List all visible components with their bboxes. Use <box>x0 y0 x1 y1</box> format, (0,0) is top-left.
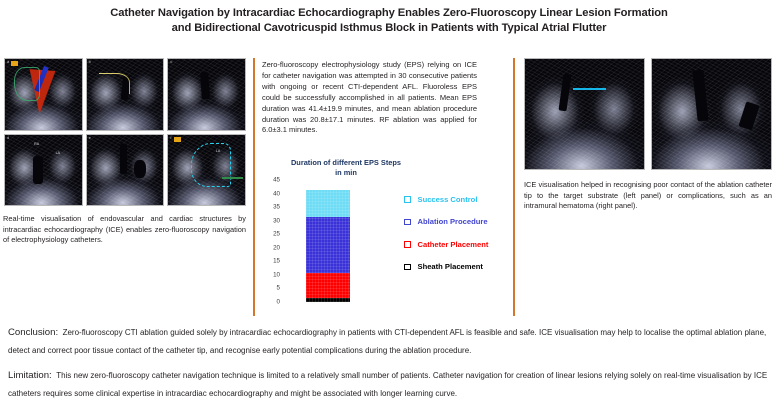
y-axis-tick-5: 5 <box>277 285 280 292</box>
legend-swatch-icon <box>404 241 411 248</box>
figure-title: Catheter Navigation by Intracardiac Echo… <box>0 0 778 35</box>
y-axis-tick-35: 35 <box>273 204 280 211</box>
chart-title-line-1: Duration of different EPS Steps <box>276 158 416 168</box>
panel-label-c: c <box>170 59 172 64</box>
legend-swatch-icon <box>404 219 411 226</box>
green-trace-outline <box>14 67 40 101</box>
eps-duration-chart: Duration of different EPS Steps in min 4… <box>256 158 512 318</box>
conclusion-lead-label: Conclusion: <box>8 327 58 338</box>
panel-label-f: f <box>170 135 171 140</box>
left-caption-text: Real-time visualisation of endovascular … <box>3 214 246 246</box>
bar-segment-ablation-procedure <box>306 217 350 273</box>
orange-tag-icon <box>174 137 181 142</box>
y-axis-tick-0: 0 <box>277 299 280 306</box>
stacked-bar <box>306 180 350 302</box>
results-paragraph: Zero-fluoroscopy electrophysiology study… <box>262 60 477 136</box>
anatomic-notch <box>200 71 210 98</box>
legend-label: Catheter Placement <box>418 240 489 249</box>
middle-column: Zero-fluoroscopy electrophysiology study… <box>256 52 512 320</box>
y-axis-tick-20: 20 <box>273 244 280 251</box>
title-line-2: and Bidirectional Cavotricuspid Isthmus … <box>40 21 738 36</box>
ultrasound-image-c: c <box>167 58 246 131</box>
legend-swatch-icon <box>404 264 411 271</box>
chart-title-line-2: in min <box>276 168 416 178</box>
chamber-label-la: LA <box>56 151 60 155</box>
y-axis-tick-25: 25 <box>273 231 280 238</box>
yellow-trace-outline <box>99 73 130 94</box>
right-image-row <box>524 58 772 170</box>
y-axis-tick-10: 10 <box>273 271 280 278</box>
bar-segment-success-control <box>306 190 350 217</box>
right-caption-text: ICE visualisation helped in recognising … <box>524 180 772 212</box>
left-column: a b c RA LA d <box>0 52 250 320</box>
chart-plot-area: 454035302520151050 <box>256 180 396 302</box>
legend-swatch-icon <box>404 196 411 203</box>
ice-image-grid: a b c RA LA d <box>4 58 246 206</box>
legend-label: Ablation Procedure <box>418 217 488 226</box>
legend-label: Success Control <box>418 195 478 204</box>
ultrasound-image-d: RA LA d <box>4 134 83 207</box>
y-axis: 454035302520151050 <box>256 180 282 302</box>
anatomic-notch <box>120 144 126 174</box>
ultrasound-image-left-panel <box>524 58 645 170</box>
chart-title: Duration of different EPS Steps in min <box>276 158 416 177</box>
bar-segment-catheter-placement <box>306 273 350 298</box>
conclusion-paragraph: Conclusion: Zero-fluoroscopy CTI ablatio… <box>8 322 770 358</box>
panel-label-e: e <box>89 135 91 140</box>
panel-label-d: d <box>7 135 9 140</box>
legend-item-catheter-placement: Catheter Placement <box>404 233 512 256</box>
limitation-block: Limitation: This new zero-fluoroscopy ca… <box>8 365 770 401</box>
speckle-texture <box>525 59 644 169</box>
legend-label: Sheath Placement <box>418 262 483 271</box>
legend-item-success-control: Success Control <box>404 188 512 211</box>
green-marker-bar-icon <box>222 177 243 179</box>
bar-segment-sheath-placement <box>306 298 350 302</box>
orange-tag-icon <box>11 61 18 66</box>
panel-label-b: b <box>89 59 91 64</box>
y-axis-tick-45: 45 <box>273 177 280 184</box>
limitation-body-text: This new zero-fluoroscopy catheter navig… <box>8 371 767 398</box>
column-divider-right <box>513 58 515 316</box>
figure-body: a b c RA LA d <box>0 52 778 320</box>
legend-item-ablation-procedure: Ablation Procedure <box>404 211 512 234</box>
cyan-dashed-trace-outline <box>191 143 231 187</box>
conclusion-block: Conclusion: Zero-fluoroscopy CTI ablatio… <box>8 322 770 358</box>
column-divider-left <box>253 58 255 316</box>
ultrasound-image-a: a <box>4 58 83 131</box>
chamber-label-la: LA <box>216 149 220 153</box>
right-column: ICE visualisation helped in recognising … <box>516 52 778 320</box>
panel-label-a: a <box>7 59 9 64</box>
figure-footer: Conclusion: Zero-fluoroscopy CTI ablatio… <box>0 322 778 400</box>
conclusion-body-text: Zero-fluoroscopy CTI ablation guided sol… <box>8 328 766 355</box>
limitation-lead-label: Limitation: <box>8 370 52 381</box>
cyan-marker-bar-icon <box>573 88 606 90</box>
anatomic-notch-2 <box>134 160 146 178</box>
chamber-label-ra: RA <box>34 142 39 146</box>
speckle-texture <box>5 135 82 206</box>
y-axis-tick-15: 15 <box>273 258 280 265</box>
ultrasound-image-right-panel <box>651 58 772 170</box>
y-axis-tick-40: 40 <box>273 190 280 197</box>
title-line-1: Catheter Navigation by Intracardiac Echo… <box>40 6 738 21</box>
y-axis-tick-30: 30 <box>273 217 280 224</box>
anatomic-notch <box>33 156 44 184</box>
ultrasound-image-e: e <box>86 134 165 207</box>
ultrasound-image-b: b <box>86 58 165 131</box>
legend-item-sheath-placement: Sheath Placement <box>404 256 512 279</box>
ultrasound-image-f: LA f <box>167 134 246 207</box>
limitation-paragraph: Limitation: This new zero-fluoroscopy ca… <box>8 365 770 401</box>
chart-legend: Success ControlAblation ProcedureCathete… <box>404 188 512 278</box>
